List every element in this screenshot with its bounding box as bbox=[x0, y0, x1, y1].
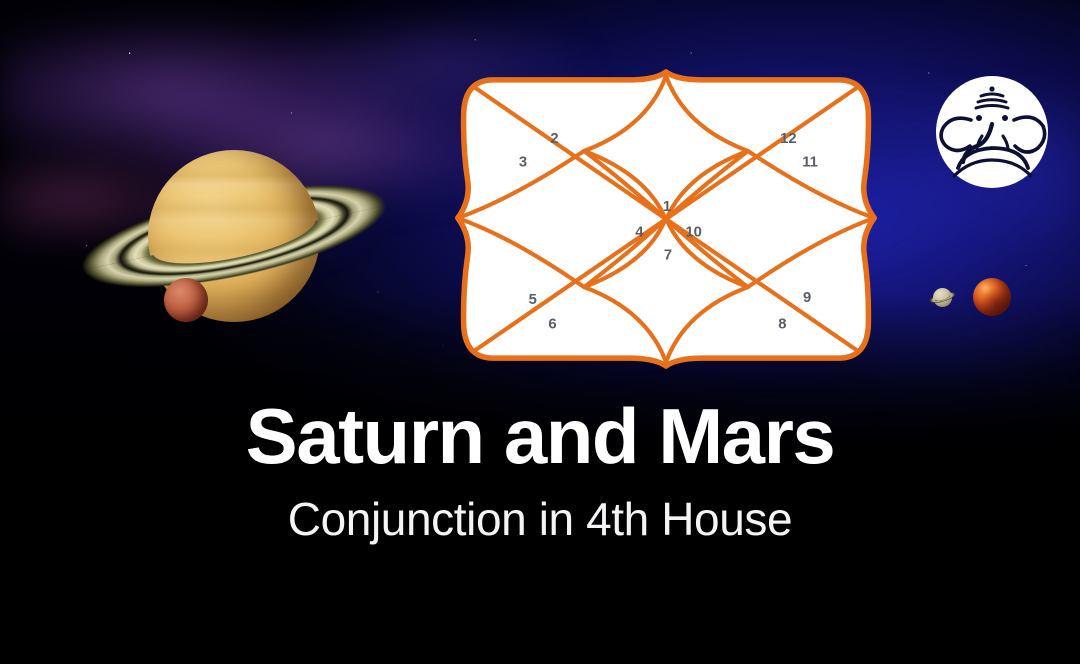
house-number-6: 6 bbox=[548, 316, 556, 332]
house-number-7: 7 bbox=[664, 247, 672, 263]
chart-planet-mars-icon bbox=[973, 278, 1011, 316]
north-indian-kundli-chart: 123456789101112 bbox=[432, 72, 900, 368]
chart-planet-saturn-icon bbox=[924, 286, 960, 308]
mars-planet-icon bbox=[164, 278, 208, 322]
house-number-2: 2 bbox=[550, 131, 558, 147]
house-number-9: 9 bbox=[803, 290, 811, 306]
house-number-4: 4 bbox=[635, 225, 644, 241]
house-number-11: 11 bbox=[802, 155, 818, 171]
house-number-5: 5 bbox=[529, 292, 537, 308]
house-number-10: 10 bbox=[685, 225, 701, 241]
house-number-1: 1 bbox=[663, 199, 671, 215]
house-number-12: 12 bbox=[780, 131, 796, 147]
ganesha-icon bbox=[936, 76, 1048, 188]
ganesha-logo[interactable] bbox=[932, 72, 1052, 192]
page-title: Saturn and Mars bbox=[0, 396, 1080, 478]
poster-canvas: 123456789101112 Saturn and Mars Conjunct… bbox=[0, 0, 1080, 664]
saturn-planet-icon bbox=[44, 126, 424, 346]
title-block: Saturn and Mars Conjunction in 4th House bbox=[0, 396, 1080, 547]
page-subtitle: Conjunction in 4th House bbox=[0, 492, 1080, 547]
house-number-8: 8 bbox=[778, 316, 786, 332]
house-number-3: 3 bbox=[519, 155, 527, 171]
